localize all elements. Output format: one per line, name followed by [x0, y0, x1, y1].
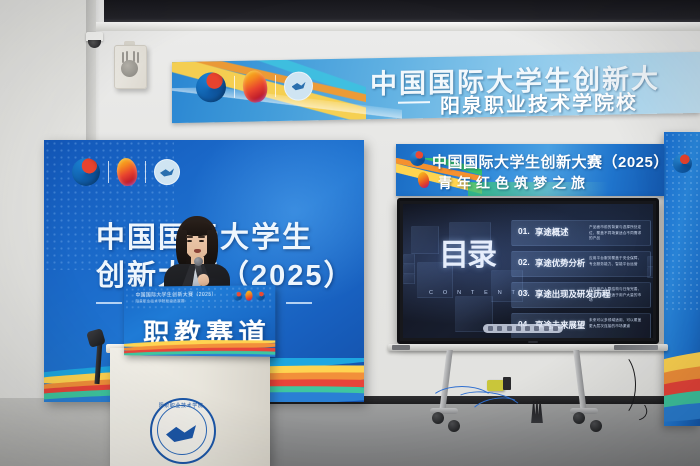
- competition-swirl-logo-icon: [233, 291, 242, 300]
- microphone-head-icon: [194, 257, 203, 266]
- whiteboard-toolbar[interactable]: [483, 324, 563, 333]
- list-item-label: 享途概述: [535, 226, 569, 238]
- slide-canvas[interactable]: 目录 C O N T E N T S 01. 享途概述 产品面市前的背景与选择所…: [403, 204, 653, 338]
- institution-seal-logo-icon: [154, 159, 180, 185]
- screen-header-banner: 中国国际大学生创新大赛（2025） 青年红色筑梦之旅: [396, 144, 664, 196]
- logo-divider: [275, 75, 276, 97]
- sign-logo-group: [233, 290, 265, 300]
- speaker-woofer: [121, 60, 138, 77]
- screen-banner-subtitle: 青年红色筑梦之旅: [438, 173, 590, 193]
- slide-deco-square: [403, 274, 415, 284]
- select-icon[interactable]: [534, 326, 539, 331]
- competition-swirl-logo-icon: [673, 154, 692, 173]
- list-item-label: 享途优势分析: [535, 257, 585, 269]
- list-item-title: 02.: [518, 257, 530, 267]
- sign-wave-graphic: [124, 340, 275, 357]
- presenter-brow: [198, 236, 205, 238]
- more-icon[interactable]: [553, 326, 558, 331]
- board-icon[interactable]: [525, 326, 530, 331]
- podium-seal-text: 阳泉职业技术学院: [150, 402, 212, 409]
- sign-small-line1: 中国国际大学生创新大赛（2025）: [136, 291, 217, 299]
- standee-wave-graphic: [664, 348, 700, 426]
- list-item: 01. 享途概述 产品面市前的背景与选择所处定位，覆盖不同场景适合不同需求的产品: [511, 220, 649, 246]
- wall-banner: 中国国际大学生创新大 阳泉职业技术学院校: [172, 52, 700, 123]
- banner-logo-group: [196, 69, 313, 103]
- list-item-desc: 产品面市前的背景与选择所处定位，覆盖不同场景适合不同需求的产品: [589, 225, 645, 242]
- institution-seal-inner: [157, 405, 207, 455]
- presenter-hair-right: [207, 230, 218, 266]
- sign-small-line2: 阳泉职业技术学院校级选拔赛: [136, 299, 185, 304]
- presenter-brow: [186, 236, 193, 238]
- conference-room-photo: 中国国际大学生创新大 阳泉职业技术学院校 中国国际大学生 创新大赛（2025） …: [0, 0, 700, 466]
- ceiling-trim: [96, 22, 700, 31]
- highlighter-icon[interactable]: [497, 326, 502, 331]
- list-item-desc: 应用平台服务覆盖于安全保障，专业服务能力、智能平台运营: [589, 256, 645, 267]
- list-item: 02. 享途优势分析 应用平台服务覆盖于安全保障，专业服务能力、智能平台运营: [511, 251, 649, 277]
- check-icon[interactable]: [544, 326, 549, 331]
- slide-heading-cn: 目录: [439, 242, 495, 269]
- list-item: 03. 享途出现及研发历程 现在用户人群结构与日渐完善，通过项目打造适于用户大量…: [511, 282, 649, 308]
- slide-contents-list: 01. 享途概述 产品面市前的背景与选择所处定位，覆盖不同场景适合不同需求的产品…: [511, 220, 649, 338]
- competition-swirl-logo-icon: [196, 72, 226, 103]
- red-dream-flame-logo-icon: [115, 157, 139, 188]
- roll-up-standee: [664, 132, 700, 426]
- presenter-mouth: [194, 249, 201, 253]
- competition-swirl-logo-icon: [410, 151, 425, 166]
- institution-seal-logo-icon: [256, 291, 265, 300]
- list-item-title: 01.: [518, 226, 530, 236]
- wall-banner-rule: [398, 101, 430, 104]
- list-item-desc: 未来可以多领域适用、可以覆盖更大层次连接的市场渠道: [589, 318, 645, 329]
- pen-icon[interactable]: [488, 326, 493, 331]
- list-item-desc: 现在用户人群结构与日渐完善，通过项目打造适于用户大量的市场: [589, 287, 645, 304]
- cart-caster: [573, 412, 585, 424]
- slide-deco-square: [403, 264, 415, 274]
- competition-swirl-logo-icon: [72, 158, 100, 186]
- red-dream-flame-logo-icon: [241, 69, 269, 104]
- screen-banner-title: 中国国际大学生创新大赛（2025）: [432, 151, 664, 172]
- shape-icon[interactable]: [516, 326, 521, 331]
- ir-receiver: [528, 341, 538, 343]
- backdrop-logo-group: [72, 158, 180, 186]
- eraser-icon[interactable]: [507, 326, 512, 331]
- cart-left-fitting: [392, 345, 410, 350]
- cart-right-fitting: [614, 345, 658, 350]
- slide-deco-square: [403, 254, 415, 264]
- power-adapter: [487, 380, 504, 391]
- logo-divider: [108, 161, 109, 183]
- cart-caster: [590, 420, 602, 432]
- list-item-title: 03.: [518, 288, 530, 298]
- backdrop-rule-left: [96, 302, 122, 304]
- plug-block: [503, 377, 511, 390]
- podium-sign: 中国国际大学生创新大赛（2025） 阳泉职业技术学院校级选拔赛 职教赛道: [124, 285, 275, 357]
- slide-deco-square: [411, 226, 439, 254]
- wall-banner-subtitle: 阳泉职业技术学院校: [440, 86, 638, 119]
- logo-divider: [234, 76, 235, 98]
- floor-left-light: [0, 398, 120, 466]
- logo-divider: [145, 161, 146, 183]
- red-dream-flame-logo-icon: [245, 291, 252, 301]
- interactive-display[interactable]: 目录 C O N T E N T S 01. 享途概述 产品面市前的背景与选择所…: [397, 198, 659, 344]
- backdrop-rule-right: [286, 302, 312, 304]
- institution-seal-logo-icon: [284, 71, 313, 101]
